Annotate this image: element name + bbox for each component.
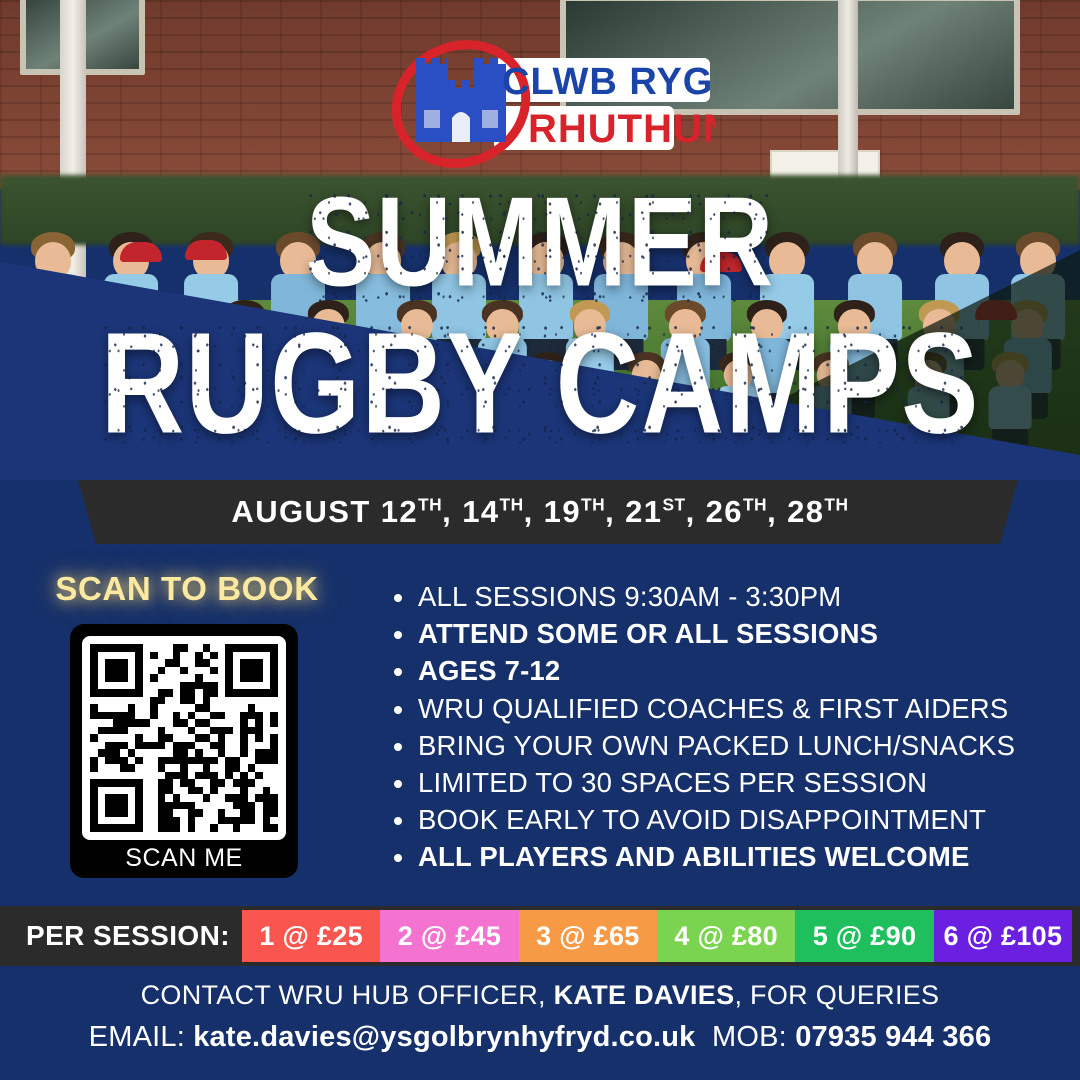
pricing-tiers: 1 @ £252 @ £453 @ £654 @ £805 @ £906 @ £… xyxy=(242,906,1080,966)
features-list: ALL SESSIONS 9:30AM - 3:30PMATTEND SOME … xyxy=(390,578,1030,876)
scan-to-book-heading: SCAN TO BOOK xyxy=(52,570,322,608)
list-item: AGES 7-12 xyxy=(390,652,1030,689)
title-text-rugby-camps: RUGBY CAMPS xyxy=(101,317,980,449)
date-ordinal: TH xyxy=(418,495,442,515)
list-item: BRING YOUR OWN PACKED LUNCH/SNACKS xyxy=(390,727,1030,764)
dates-text: AUGUST 12TH, 14TH, 19TH, 21ST, 26TH, 28T… xyxy=(231,494,848,530)
mobile-label: MOB: xyxy=(712,1021,795,1053)
contact-footer: CONTACT WRU HUB OFFICER, KATE DAVIES, FO… xyxy=(0,980,1080,1054)
pricing-strip: PER SESSION: 1 @ £252 @ £453 @ £654 @ £8… xyxy=(0,906,1080,966)
date-ordinal: TH xyxy=(500,495,524,515)
price-tier: 4 @ £80 xyxy=(657,910,795,962)
email-address[interactable]: kate.davies@ysgolbrynhyfryd.co.uk xyxy=(193,1021,695,1053)
email-label: EMAIL: xyxy=(89,1021,194,1053)
qr-code-block[interactable]: SCAN ME xyxy=(70,624,298,878)
logo-line-2: RHUTHUN xyxy=(528,107,716,151)
pricing-label: PER SESSION: xyxy=(0,906,242,966)
list-item: LIMITED TO 30 SPACES PER SESSION xyxy=(390,764,1030,801)
date-ordinal: ST xyxy=(662,495,685,515)
price-tier: 1 @ £25 xyxy=(242,910,380,962)
list-item: ALL PLAYERS AND ABILITIES WELCOME xyxy=(390,838,1030,875)
contact-name: KATE DAVIES xyxy=(554,980,735,1010)
title-text-summer: SUMMER xyxy=(306,185,774,302)
dates-banner: AUGUST 12TH, 14TH, 19TH, 21ST, 26TH, 28T… xyxy=(0,480,1080,544)
logo-line-1: CLWB RYGBI xyxy=(502,61,716,103)
date-ordinal: TH xyxy=(743,495,767,515)
mobile-number[interactable]: 07935 944 366 xyxy=(795,1021,991,1053)
contact-prefix: CONTACT WRU HUB OFFICER, xyxy=(141,980,554,1010)
title-line-rugby-camps: RUGBY CAMPS xyxy=(0,317,1080,449)
qr-code-image[interactable] xyxy=(82,636,286,840)
club-logo: CLWB RYGBI RHUTHUN xyxy=(386,34,716,174)
contact-line-2: EMAIL: kate.davies@ysgolbrynhyfryd.co.uk… xyxy=(0,1021,1080,1054)
price-tier: 3 @ £65 xyxy=(519,910,657,962)
price-tier: 6 @ £105 xyxy=(934,910,1072,962)
poster-canvas: CLWB RYGBI RHUTHUN SUMMER RUGBY CAMPS AU… xyxy=(0,0,1080,1080)
date-ordinal: TH xyxy=(581,495,605,515)
list-item: ATTEND SOME OR ALL SESSIONS xyxy=(390,615,1030,652)
list-item: ALL SESSIONS 9:30AM - 3:30PM xyxy=(390,578,1030,615)
list-item: WRU QUALIFIED COACHES & FIRST AIDERS xyxy=(390,690,1030,727)
date-ordinal: TH xyxy=(824,495,848,515)
list-item: BOOK EARLY TO AVOID DISAPPOINTMENT xyxy=(390,801,1030,838)
scan-me-caption: SCAN ME xyxy=(125,844,242,873)
price-tier: 2 @ £45 xyxy=(380,910,518,962)
price-tier: 5 @ £90 xyxy=(795,910,933,962)
title-line-summer: SUMMER xyxy=(0,185,1080,302)
poster-title: SUMMER RUGBY CAMPS xyxy=(0,196,1080,436)
contact-suffix: , FOR QUERIES xyxy=(734,980,939,1010)
contact-line-1: CONTACT WRU HUB OFFICER, KATE DAVIES, FO… xyxy=(0,980,1080,1011)
